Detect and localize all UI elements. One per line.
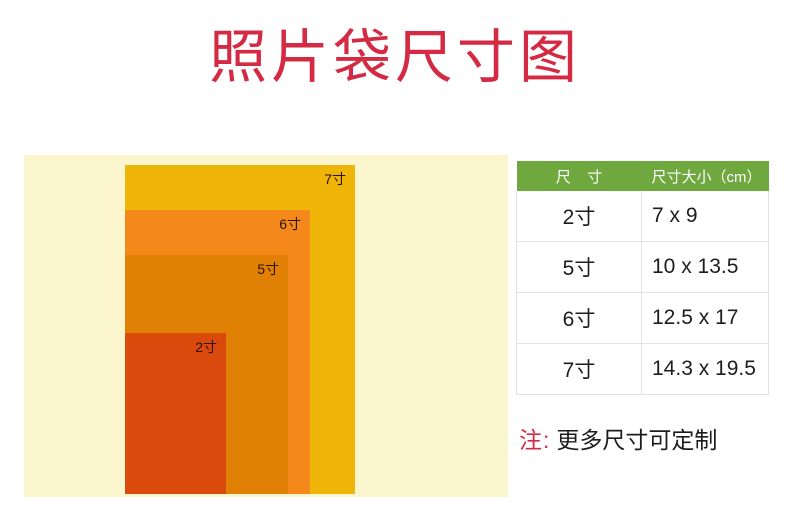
table-cell-size: 2寸 <box>517 191 642 242</box>
table-cell-size: 6寸 <box>517 293 642 344</box>
size-rect-label-5cun: 5寸 <box>257 261 279 277</box>
size-rect-2cun: 2寸 <box>125 333 226 494</box>
table-cell-dimensions: 7 x 9 <box>642 191 769 242</box>
table-cell-dimensions: 10 x 13.5 <box>642 242 769 293</box>
size-comparison-diagram: 7寸 6寸 5寸 2寸 <box>24 155 508 497</box>
table-header-dimensions: 尺寸大小（cm） <box>642 161 769 191</box>
size-rect-label-7cun: 7寸 <box>324 171 346 187</box>
note-text: 更多尺寸可定制 <box>556 427 717 453</box>
table-cell-dimensions: 12.5 x 17 <box>642 293 769 344</box>
table-cell-size: 7寸 <box>517 344 642 395</box>
table-row: 2寸 7 x 9 <box>517 191 769 242</box>
note-prefix: 注: <box>519 427 550 453</box>
page-title: 照片袋尺寸图 <box>0 26 790 90</box>
table-row: 5寸 10 x 13.5 <box>517 242 769 293</box>
table-cell-size: 5寸 <box>517 242 642 293</box>
table-row: 6寸 12.5 x 17 <box>517 293 769 344</box>
table-header-row: 尺 寸 尺寸大小（cm） <box>517 161 769 191</box>
size-rect-label-2cun: 2寸 <box>195 339 217 355</box>
table-header-size: 尺 寸 <box>517 161 642 191</box>
note: 注:更多尺寸可定制 <box>519 425 717 455</box>
size-table: 尺 寸 尺寸大小（cm） 2寸 7 x 9 5寸 10 x 13.5 6寸 12… <box>516 161 769 395</box>
table-row: 7寸 14.3 x 19.5 <box>517 344 769 395</box>
size-rect-label-6cun: 6寸 <box>279 216 301 232</box>
table-cell-dimensions: 14.3 x 19.5 <box>642 344 769 395</box>
